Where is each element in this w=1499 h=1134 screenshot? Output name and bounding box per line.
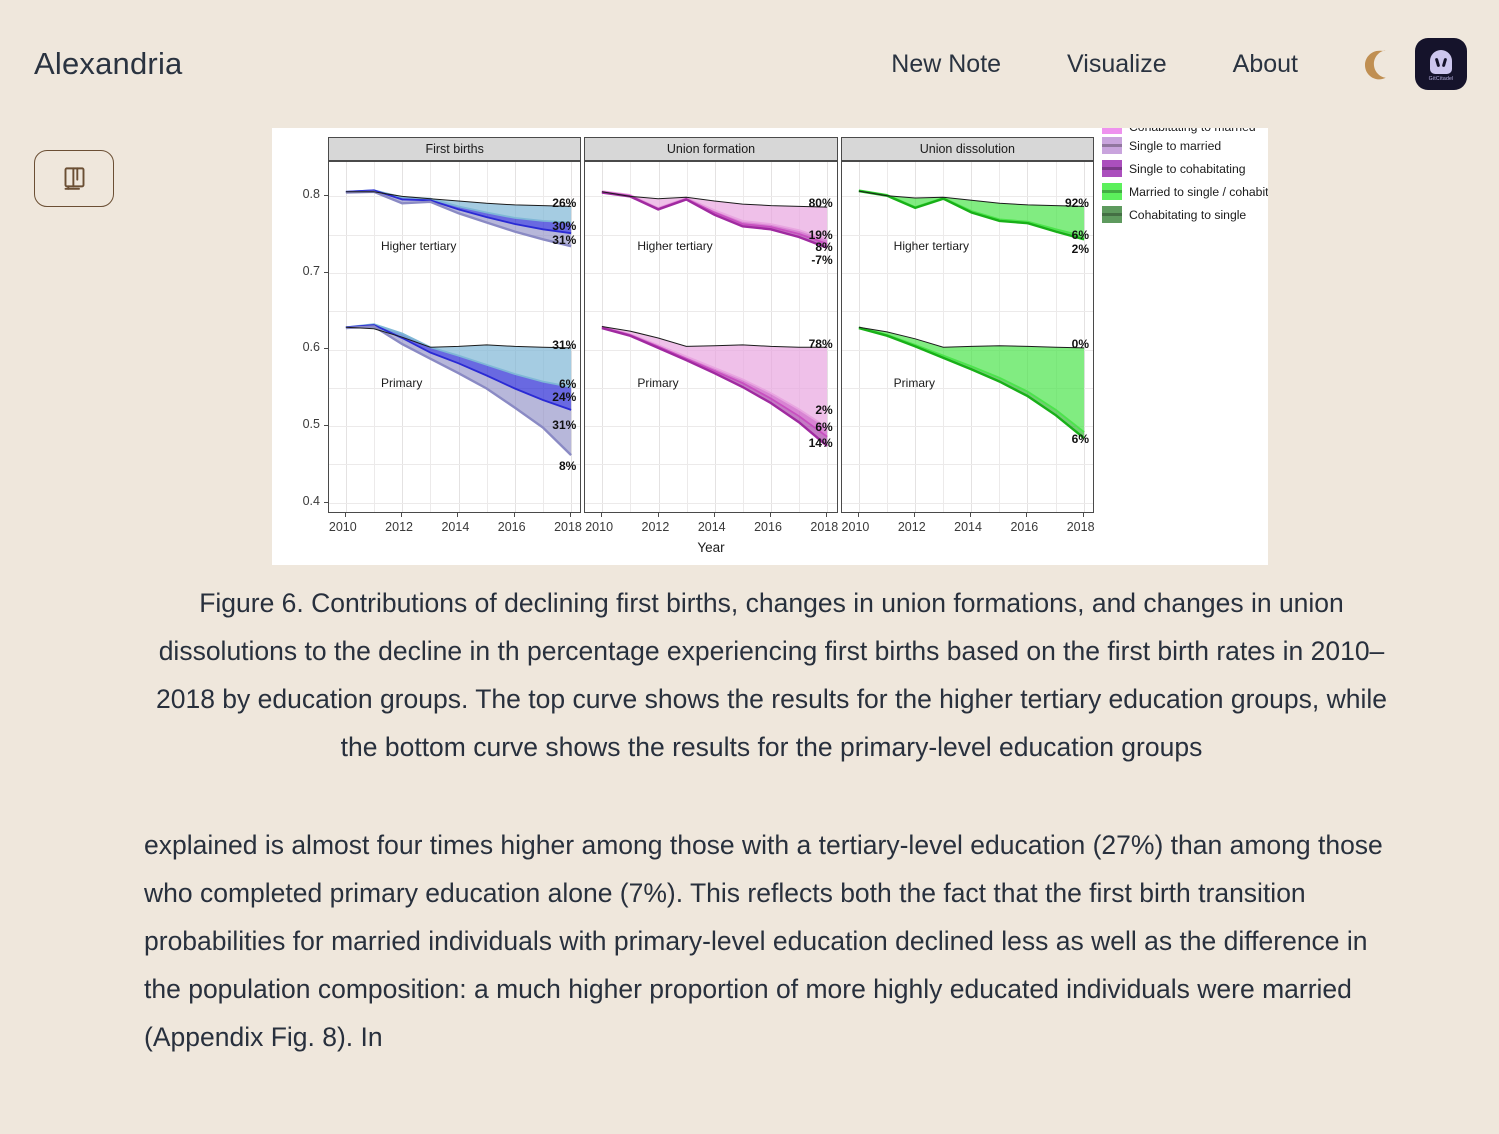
panel-title-1: First births [328,137,581,161]
group-label-higher-tertiary: Higher tertiary [894,239,969,253]
panel-curves [329,162,581,513]
x-tick-mark [826,513,827,517]
x-tick-mark [345,513,346,517]
plot-panel-2: Higher tertiaryPrimary80%19%8%-7%78%2%6%… [584,161,837,513]
baseline-primary [346,327,571,348]
value-label: 30% [552,219,576,233]
x-tick-label: 2018 [554,520,582,534]
value-label: 31% [552,418,576,432]
nav-visualize[interactable]: Visualize [1034,50,1200,79]
group-label-primary: Primary [381,376,422,390]
x-tick-mark [601,513,602,517]
x-tick-label: 2016 [498,520,526,534]
figure-caption: Figure 6. Contributions of declining fir… [144,579,1399,771]
y-tick-label: 0.6 [286,340,320,354]
nav-about[interactable]: About [1200,50,1331,79]
figure-block: % experiencing first birth 0.40.50.60.70… [272,128,1268,565]
x-tick-mark [970,513,971,517]
x-tick-label: 2012 [642,520,670,534]
legend-swatch [1102,137,1122,154]
plot-panel-1: Higher tertiaryPrimary26%30%31%31%6%24%3… [328,161,581,513]
x-tick-label: 2014 [441,520,469,534]
y-tick-label: 0.7 [286,264,320,278]
y-tick-label: 0.5 [286,417,320,431]
group-label-higher-tertiary: Higher tertiary [381,239,456,253]
value-label: 80% [809,196,833,210]
gitcitadel-logo-icon[interactable]: GitCitadel [1415,38,1467,90]
group-label-primary: Primary [894,376,935,390]
value-label: 92% [1065,196,1089,210]
x-tick-mark [401,513,402,517]
x-tick-label: 2016 [754,520,782,534]
y-tick-label: 0.4 [286,494,320,508]
value-label: 31% [552,233,576,247]
app-header: Alexandria New Note Visualize About GitC… [0,0,1499,128]
page-title[interactable]: Alexandria [34,46,182,82]
x-tick-label: 2012 [898,520,926,534]
legend-swatch [1102,128,1122,134]
panel-title-3: Union dissolution [841,137,1094,161]
x-tick-label: 2012 [385,520,413,534]
x-tick-mark [858,513,859,517]
group-label-higher-tertiary: Higher tertiary [637,239,712,253]
legend-swatch [1102,160,1122,177]
x-tick-label: 2014 [698,520,726,534]
value-label: 8% [559,459,576,473]
x-tick-mark [770,513,771,517]
x-tick-mark [714,513,715,517]
panel-title-2: Union formation [584,137,837,161]
x-tick-label: 2010 [585,520,613,534]
value-label: 24% [552,390,576,404]
plot-panel-3: Higher tertiaryPrimary92%6%2%0%6% [841,161,1094,513]
moon-icon[interactable] [1349,41,1401,87]
x-tick-mark [457,513,458,517]
chart-legend: Cohabitating to marriedSingle to married… [1102,128,1262,226]
value-label: 31% [552,338,576,352]
legend-item: Cohabitating to single [1102,203,1262,226]
legend-label: Single to married [1129,139,1221,153]
x-tick-mark [1026,513,1027,517]
legend-swatch [1102,206,1122,223]
group-label-primary: Primary [637,376,678,390]
value-label: 0% [1072,337,1089,351]
x-tick-label: 2018 [810,520,838,534]
value-label: 6% [1072,228,1089,242]
value-label: 8% [815,240,832,254]
logo-ghost-shape [1430,50,1452,74]
legend-label: Cohabitating to married [1129,128,1256,134]
main-nav: New Note Visualize About GitCitadel [858,38,1467,90]
value-label: 6% [1072,432,1089,446]
panel-curves [842,162,1094,513]
value-label: 2% [1072,242,1089,256]
legend-item: Married to single / cohabitating [1102,180,1262,203]
x-tick-label: 2014 [954,520,982,534]
panel-curves [585,162,837,513]
value-label: 78% [809,337,833,351]
panel-title-strip: First birthsUnion formationUnion dissolu… [328,137,1094,161]
band-primary-0 [859,327,1084,432]
x-tick-label: 2018 [1067,520,1095,534]
value-label: 6% [815,420,832,434]
figure-chart-image: % experiencing first birth 0.40.50.60.70… [272,128,1268,565]
x-tick-mark [914,513,915,517]
main-content: % experiencing first birth 0.40.50.60.70… [0,128,1499,1061]
x-tick-label: 2010 [842,520,870,534]
legend-label: Single to cohabitating [1129,162,1246,176]
legend-label: Married to single / cohabitating [1129,185,1268,199]
legend-item: Single to cohabitating [1102,157,1262,180]
value-label: 14% [809,436,833,450]
legend-item: Single to married [1102,134,1262,157]
logo-wordmark: GitCitadel [1429,76,1454,82]
x-tick-mark [570,513,571,517]
x-tick-mark [1083,513,1084,517]
body-paragraph: explained is almost four times higher am… [144,821,1399,1061]
y-tick-label: 0.8 [286,187,320,201]
x-axis-title: Year [328,540,1094,555]
nav-new-note[interactable]: New Note [858,50,1034,79]
value-label: 26% [552,196,576,210]
value-label: 6% [559,377,576,391]
value-label: -7% [811,253,832,267]
legend-swatch [1102,183,1122,200]
x-tick-label: 2010 [329,520,357,534]
legend-label: Cohabitating to single [1129,208,1246,222]
x-tick-mark [514,513,515,517]
value-label: 2% [815,403,832,417]
x-tick-mark [658,513,659,517]
x-tick-label: 2016 [1010,520,1038,534]
